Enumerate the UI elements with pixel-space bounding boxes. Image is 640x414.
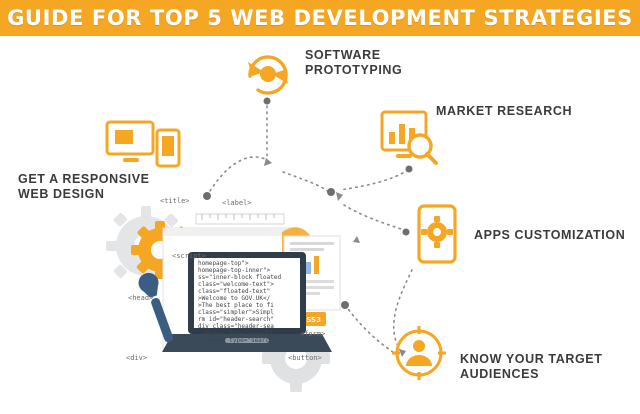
svg-text:<button>: <button> [288,354,322,362]
ruler-shape [196,214,284,224]
svg-text:rm id="header-search": rm id="header-search" [198,316,274,323]
svg-text:ss="inner-block floated: ss="inner-block floated [198,274,281,281]
svg-text:<head>: <head> [128,294,153,302]
bar-chart-magnifier-icon[interactable] [380,110,440,168]
svg-text:div class="header-sea: div class="header-sea [198,323,274,330]
svg-text:<script>: <script> [172,252,206,260]
gear-shape-bottom [262,324,330,392]
code-sheet [163,228,298,348]
svg-text:<div>: <div> [126,354,147,362]
svg-text:<input type="search": <input type="search" [204,337,276,344]
header-banner: GUIDE FOR TOP 5 WEB DEVELOPMENT STRATEGI… [0,0,640,36]
label-apps-customization: APPS CUSTOMIZATION [474,228,640,243]
screen-code-text: homepage-top"> homepage-top-inner"> ss="… [196,253,281,344]
infographic-canvas: GUIDE FOR TOP 5 WEB DEVELOPMENT STRATEGI… [0,0,640,414]
svg-text:>The best place to fi: >The best place to fi [198,302,274,309]
svg-text:homepage-top">: homepage-top"> [198,260,249,267]
prototyping-cycle-icon[interactable] [240,46,296,100]
label-responsive-web-design: GET A RESPONSIVE WEB DESIGN [18,172,168,202]
report-card [284,236,340,310]
target-person-icon[interactable] [392,326,446,380]
svg-text:"welcome-block": "welcome-block" [196,253,250,260]
svg-text:<label>: <label> [222,199,252,207]
svg-text:class="floated-text": class="floated-text" [198,288,270,295]
gear-shape-orange [131,221,189,279]
svg-text:<label for="search" c: <label for="search" c [204,330,280,337]
svg-text:<form>: <form> [300,330,325,338]
gear-shape-left [106,206,186,286]
label-market-research: MARKET RESEARCH [436,104,616,119]
laptop-shape [162,252,332,352]
responsive-devices-icon[interactable] [105,118,183,176]
svg-text:class="simpler">Simpl: class="simpler">Simpl [198,309,274,316]
svg-text:homepage-top-inner">: homepage-top-inner"> [198,267,271,274]
label-know-your-target-audiences: KNOW YOUR TARGET AUDIENCES [460,352,635,382]
wrench-icon [136,270,180,345]
mobile-gear-icon[interactable] [415,204,463,266]
label-software-prototyping: SOFTWARE PROTOTYPING [305,48,455,78]
svg-text:>Welcome to GOV.UK</: >Welcome to GOV.UK</ [198,295,271,302]
svg-text:class="welcome-text">: class="welcome-text"> [198,281,274,288]
floating-tags: <title> <label> <script> <head> <div> <f… [126,197,325,362]
css-badge: CSS3 [296,312,326,326]
page-title: GUIDE FOR TOP 5 WEB DEVELOPMENT STRATEGI… [7,6,633,30]
css-badge-label: CSS3 [301,316,321,324]
orange-blob [282,227,316,263]
